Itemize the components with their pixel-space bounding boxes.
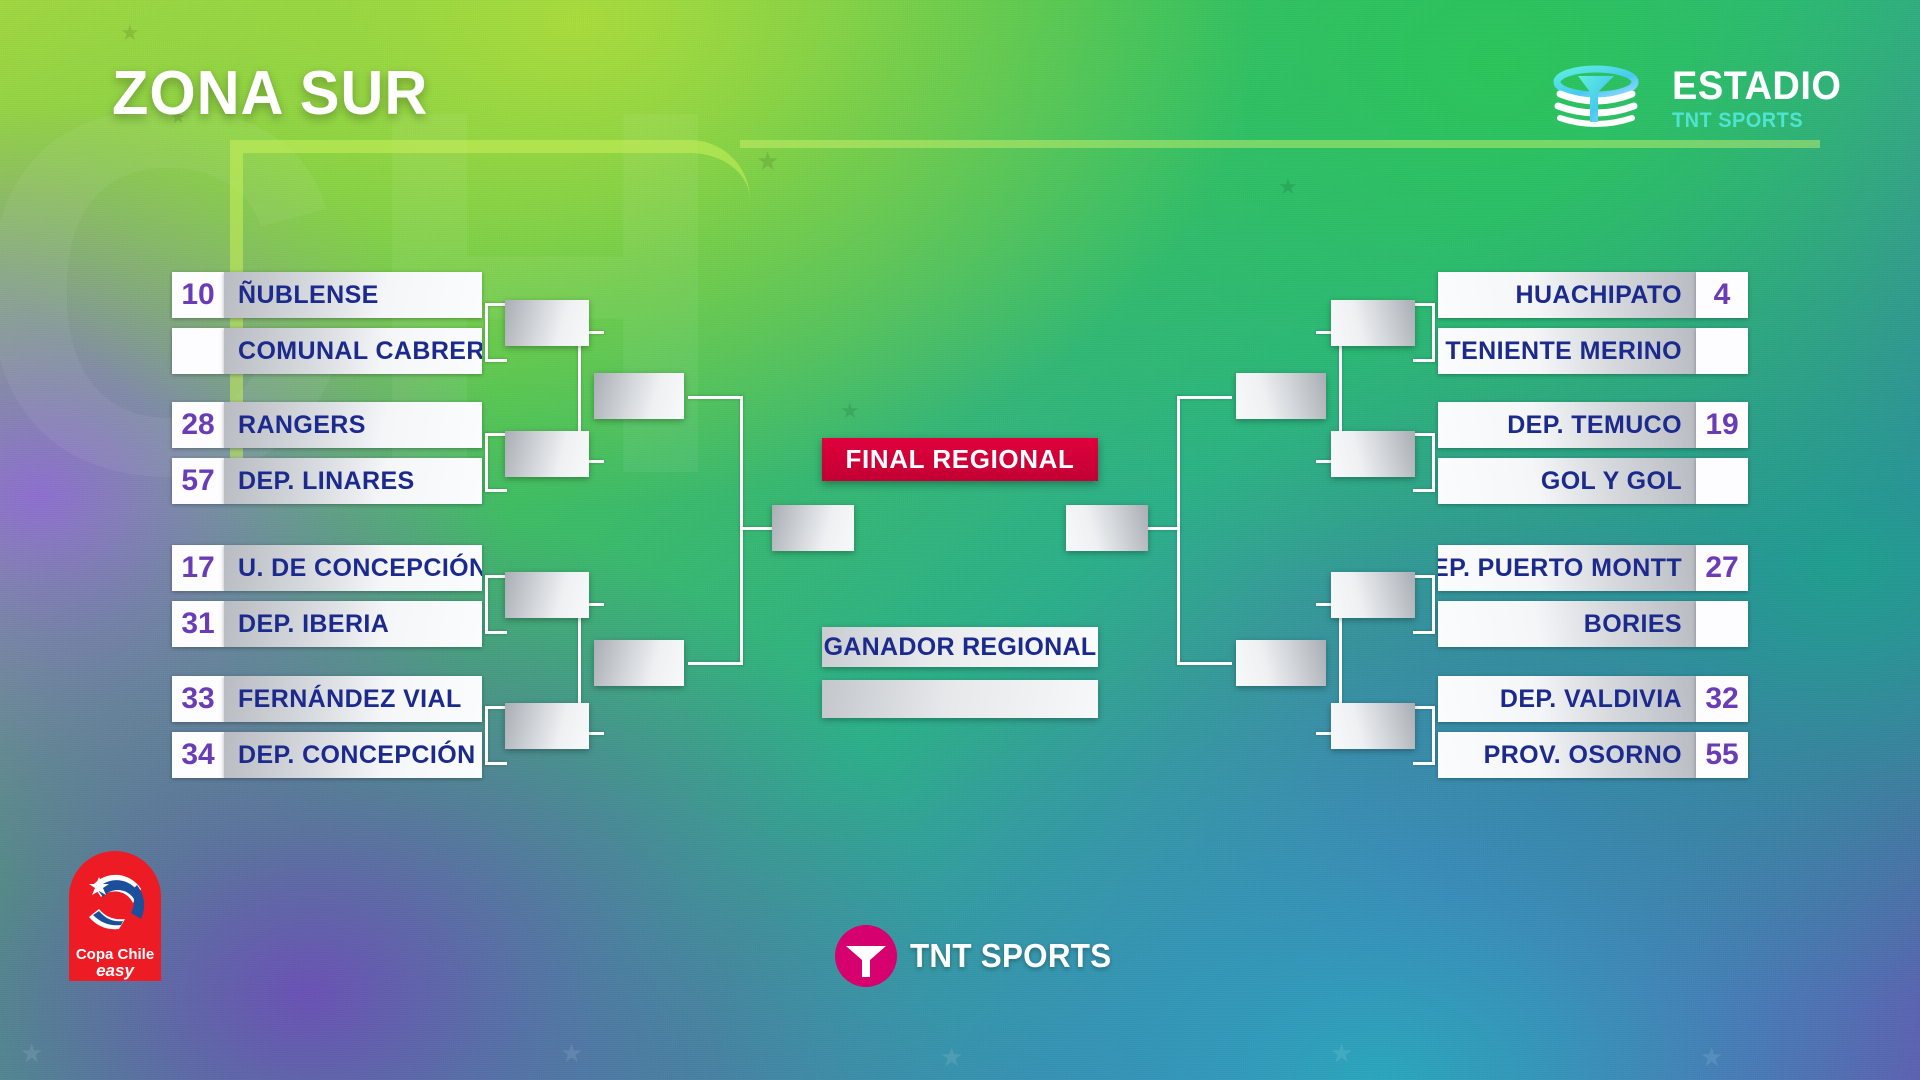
team-row[interactable]: 34 DEP. CONCEPCIÓN	[172, 732, 482, 778]
team-name: DEP. TEMUCO	[1438, 402, 1696, 448]
team-row[interactable]: 33 FERNÁNDEZ VIAL	[172, 676, 482, 722]
team-name: DEP. VALDIVIA	[1438, 676, 1696, 722]
broadcast-graphic: CH ★ ★ ★ ★ ★ ★ ★ ★ ★ ★ ★ ★ ZONA SUR	[0, 0, 1920, 1080]
team-seed: 34	[172, 732, 224, 778]
team-seed: 10	[172, 272, 224, 318]
bracket-line	[688, 662, 743, 665]
background-star-icon: ★	[756, 148, 779, 174]
bracket-line	[1413, 303, 1435, 306]
bracket-slot[interactable]	[505, 703, 589, 749]
bracket-slot[interactable]	[505, 431, 589, 477]
team-name: PROV. OSORNO	[1438, 732, 1696, 778]
bracket-line	[1413, 433, 1435, 436]
bracket-line	[485, 631, 507, 634]
bracket-slot[interactable]	[1331, 703, 1415, 749]
team-row[interactable]: 17 U. DE CONCEPCIÓN	[172, 545, 482, 591]
bracket-line	[1413, 631, 1435, 634]
team-name: DEP. LINARES	[224, 458, 482, 504]
estadio-logo-text: ESTADIO	[1672, 66, 1841, 106]
team-seed: 27	[1696, 545, 1748, 591]
team-name: GOL Y GOL	[1438, 458, 1696, 504]
background-star-icon: ★	[560, 1040, 583, 1066]
team-row[interactable]: 55 PROV. OSORNO	[1438, 732, 1748, 778]
team-seed	[1696, 601, 1748, 647]
bracket-slot[interactable]	[1236, 373, 1326, 419]
team-seed: 19	[1696, 402, 1748, 448]
estadio-logo-subtext: TNT SPORTS	[1672, 110, 1841, 131]
copa-easy-text: easy	[96, 961, 135, 980]
bracket-line	[1432, 433, 1435, 492]
team-row[interactable]: BORIES	[1438, 601, 1748, 647]
team-seed: 32	[1696, 676, 1748, 722]
team-seed	[1696, 328, 1748, 374]
bracket-slot-finalist[interactable]	[1066, 505, 1148, 551]
estadio-tnt-logo: ESTADIO TNT SPORTS	[1546, 62, 1850, 134]
bracket-slot[interactable]	[1331, 572, 1415, 618]
bracket-line	[485, 706, 507, 709]
team-name: DEP. IBERIA	[224, 601, 482, 647]
team-seed	[172, 328, 224, 374]
team-name: BORIES	[1438, 601, 1696, 647]
background-noise-texture	[0, 0, 1920, 1080]
team-seed: 17	[172, 545, 224, 591]
decorative-rule	[740, 140, 1820, 148]
background-star-icon: ★	[940, 1044, 963, 1070]
team-seed: 28	[172, 402, 224, 448]
bracket-slot[interactable]	[1331, 300, 1415, 346]
bracket-line	[688, 396, 743, 399]
team-name: U. DE CONCEPCIÓN	[224, 545, 482, 591]
bracket-slot[interactable]	[594, 373, 684, 419]
bracket-line	[485, 433, 488, 492]
background-star-icon: ★	[1700, 1044, 1723, 1070]
team-name: HUACHIPATO	[1438, 272, 1696, 318]
team-seed: 31	[172, 601, 224, 647]
team-seed: 4	[1696, 272, 1748, 318]
bracket-line	[1413, 359, 1435, 362]
team-name: RANGERS	[224, 402, 482, 448]
bracket-slot[interactable]	[505, 300, 589, 346]
team-seed: 33	[172, 676, 224, 722]
ganador-regional-slot[interactable]	[822, 680, 1098, 718]
bracket-line	[1432, 303, 1435, 362]
team-row[interactable]: 32 DEP. VALDIVIA	[1438, 676, 1748, 722]
bracket-line	[485, 303, 488, 362]
tnt-sports-text: TNT SPORTS	[910, 937, 1111, 975]
ganador-regional-label: GANADOR REGIONAL	[822, 627, 1098, 667]
team-row[interactable]: 10 ÑUBLENSE	[172, 272, 482, 318]
bracket-line	[485, 706, 488, 765]
bracket-line	[485, 303, 507, 306]
team-name: DEP. CONCEPCIÓN	[224, 732, 482, 778]
bracket-line	[1177, 396, 1180, 665]
team-row[interactable]: GOL Y GOL	[1438, 458, 1748, 504]
team-row[interactable]: 28 RANGERS	[172, 402, 482, 448]
bracket-slot[interactable]	[1331, 431, 1415, 477]
tnt-sports-logo: TNT SPORTS	[835, 925, 1122, 987]
bracket-line	[1177, 662, 1232, 665]
bracket-line	[1177, 396, 1232, 399]
bracket-slot-finalist[interactable]	[772, 505, 854, 551]
bracket-slot[interactable]	[594, 640, 684, 686]
team-row[interactable]: 27 DEP. PUERTO MONTT	[1438, 545, 1748, 591]
bracket-line	[485, 762, 507, 765]
team-name: FERNÁNDEZ VIAL	[224, 676, 482, 722]
page-title: ZONA SUR	[112, 58, 428, 129]
bracket-line	[485, 575, 507, 578]
final-regional-banner: FINAL REGIONAL	[822, 438, 1098, 481]
copa-chile-logo: Copa Chile easy	[63, 845, 167, 985]
team-seed	[1696, 458, 1748, 504]
team-row[interactable]: 57 DEP. LINARES	[172, 458, 482, 504]
team-row[interactable]: 19 DEP. TEMUCO	[1438, 402, 1748, 448]
team-seed: 55	[1696, 732, 1748, 778]
team-name: ÑUBLENSE	[224, 272, 482, 318]
team-row[interactable]: 31 DEP. IBERIA	[172, 601, 482, 647]
bracket-slot[interactable]	[505, 572, 589, 618]
bracket-line	[1413, 762, 1435, 765]
team-row[interactable]: 4 HUACHIPATO	[1438, 272, 1748, 318]
background-star-icon: ★	[840, 400, 860, 422]
bracket-line	[740, 396, 743, 665]
team-seed: 57	[172, 458, 224, 504]
bracket-line	[1413, 575, 1435, 578]
bracket-line	[485, 359, 507, 362]
bracket-line	[485, 433, 507, 436]
bracket-line	[1432, 575, 1435, 634]
background-star-icon: ★	[1330, 1040, 1353, 1066]
background-star-icon: ★	[20, 1040, 43, 1066]
background-star-icon: ★	[120, 22, 140, 44]
bracket-line	[1146, 527, 1180, 530]
team-name: COMUNAL CABRERO	[224, 328, 482, 374]
bracket-line	[485, 489, 507, 492]
team-name: TENIENTE MERINO	[1438, 328, 1696, 374]
team-row[interactable]: COMUNAL CABRERO	[172, 328, 482, 374]
bracket-line	[1413, 706, 1435, 709]
team-row[interactable]: TENIENTE MERINO	[1438, 328, 1748, 374]
team-name: DEP. PUERTO MONTT	[1438, 545, 1696, 591]
tnt-circle-icon	[835, 925, 897, 987]
background-star-icon: ★	[1278, 176, 1298, 198]
bracket-slot[interactable]	[1236, 640, 1326, 686]
bracket-line	[1413, 489, 1435, 492]
stadium-icon	[1546, 62, 1658, 134]
bracket-line	[740, 527, 774, 530]
bracket-line	[1432, 706, 1435, 765]
bracket-line	[485, 575, 488, 634]
